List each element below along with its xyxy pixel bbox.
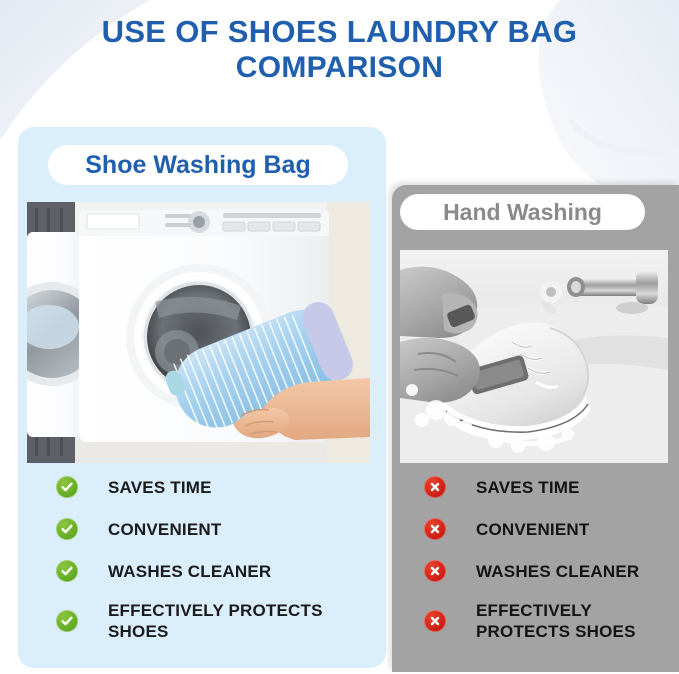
photo-shoe-bag-in-washer: [27, 202, 370, 463]
feature-label: SAVES TIME: [476, 477, 580, 498]
title-line-secondary: COMPARISON: [0, 50, 679, 86]
red-x-icon: [424, 476, 446, 498]
feature-label: WASHES CLEANER: [476, 561, 639, 582]
feature-label: CONVENIENT: [108, 519, 221, 540]
feature-list-shoe-washing-bag: SAVES TIME CONVENIENT WASHES CLEANER EFF…: [56, 474, 366, 658]
photo-hand-scrubbing-shoe: [400, 250, 668, 463]
feature-label: EFFECTIVELY PROTECTS SHOES: [476, 600, 656, 642]
title-line-primary: USE OF SHOES LAUNDRY BAG: [0, 14, 679, 50]
feature-row: CONVENIENT: [56, 516, 366, 542]
red-x-icon: [424, 518, 446, 540]
panel-right-title-pill: Hand Washing: [400, 194, 645, 230]
feature-label: CONVENIENT: [476, 519, 589, 540]
page-title: USE OF SHOES LAUNDRY BAG COMPARISON: [0, 14, 679, 86]
panel-right-title-label: Hand Washing: [443, 199, 602, 226]
red-x-icon: [424, 560, 446, 582]
feature-list-hand-washing: SAVES TIME CONVENIENT WASHES CLEANER EFF…: [424, 474, 672, 658]
panel-left-title-label: Shoe Washing Bag: [85, 151, 310, 180]
green-check-icon: [56, 610, 78, 632]
feature-row: EFFECTIVELY PROTECTS SHOES: [56, 600, 366, 642]
feature-label: WASHES CLEANER: [108, 561, 271, 582]
panel-left-title-pill: Shoe Washing Bag: [48, 145, 348, 185]
feature-row: WASHES CLEANER: [56, 558, 366, 584]
feature-label: EFFECTIVELY PROTECTS SHOES: [108, 600, 348, 642]
red-x-icon: [424, 610, 446, 632]
feature-row: EFFECTIVELY PROTECTS SHOES: [424, 600, 672, 642]
feature-row: CONVENIENT: [424, 516, 672, 542]
feature-row: WASHES CLEANER: [424, 558, 672, 584]
feature-row: SAVES TIME: [424, 474, 672, 500]
green-check-icon: [56, 560, 78, 582]
feature-row: SAVES TIME: [56, 474, 366, 500]
green-check-icon: [56, 476, 78, 498]
feature-label: SAVES TIME: [108, 477, 212, 498]
green-check-icon: [56, 518, 78, 540]
